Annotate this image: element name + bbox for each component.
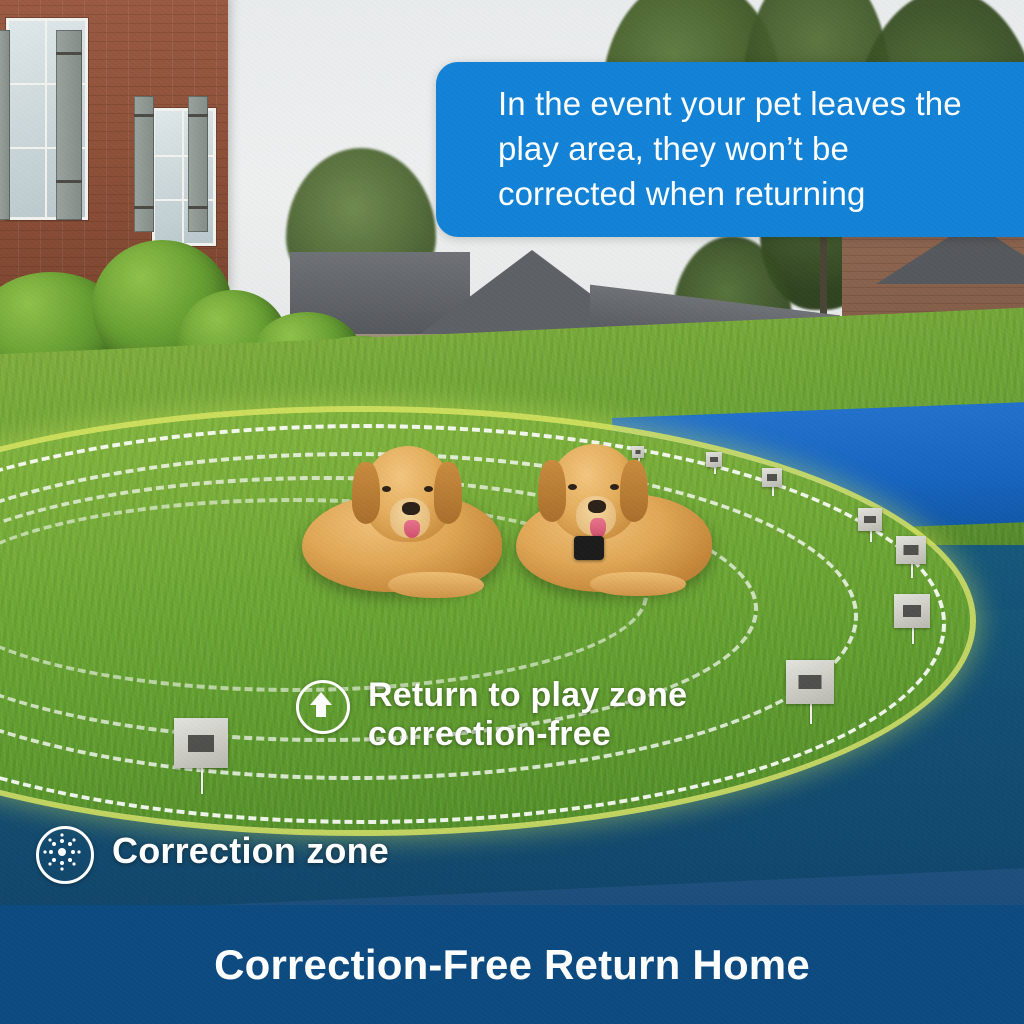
legend-correction-line1: Correction zone (112, 826, 389, 871)
legend-return-to-play-zone: Return to play zone correction-free (296, 676, 687, 754)
bottom-banner: Correction-Free Return Home (0, 905, 1024, 1024)
dog-right (500, 444, 730, 596)
boundary-flag (894, 594, 930, 644)
window-shutter (0, 30, 10, 220)
legend-correction-text: Correction zone (112, 826, 389, 871)
circle-radial-dots-icon (36, 826, 94, 884)
legend-return-line1: Return to play zone (368, 676, 687, 715)
callout-bubble: In the event your pet leaves the play ar… (436, 62, 1024, 237)
legend-return-text: Return to play zone correction-free (368, 676, 687, 754)
window-shutter (188, 96, 208, 232)
pet-collar-device (574, 536, 604, 560)
window-shutter (56, 30, 82, 220)
infographic-canvas: In the event your pet leaves the play ar… (0, 0, 1024, 1024)
legend-return-line2: correction-free (368, 715, 687, 754)
boundary-flag (762, 468, 782, 496)
callout-text: In the event your pet leaves the play ar… (436, 82, 1024, 217)
window-shutter (134, 96, 154, 232)
boundary-flag (174, 718, 228, 794)
boundary-flag (896, 536, 926, 578)
boundary-flag (858, 508, 882, 542)
legend-correction-zone: Correction zone (36, 826, 389, 884)
dog-left (302, 446, 532, 596)
circle-arrow-up-icon (296, 680, 350, 734)
boundary-flag (786, 660, 834, 724)
banner-title: Correction-Free Return Home (214, 941, 810, 989)
